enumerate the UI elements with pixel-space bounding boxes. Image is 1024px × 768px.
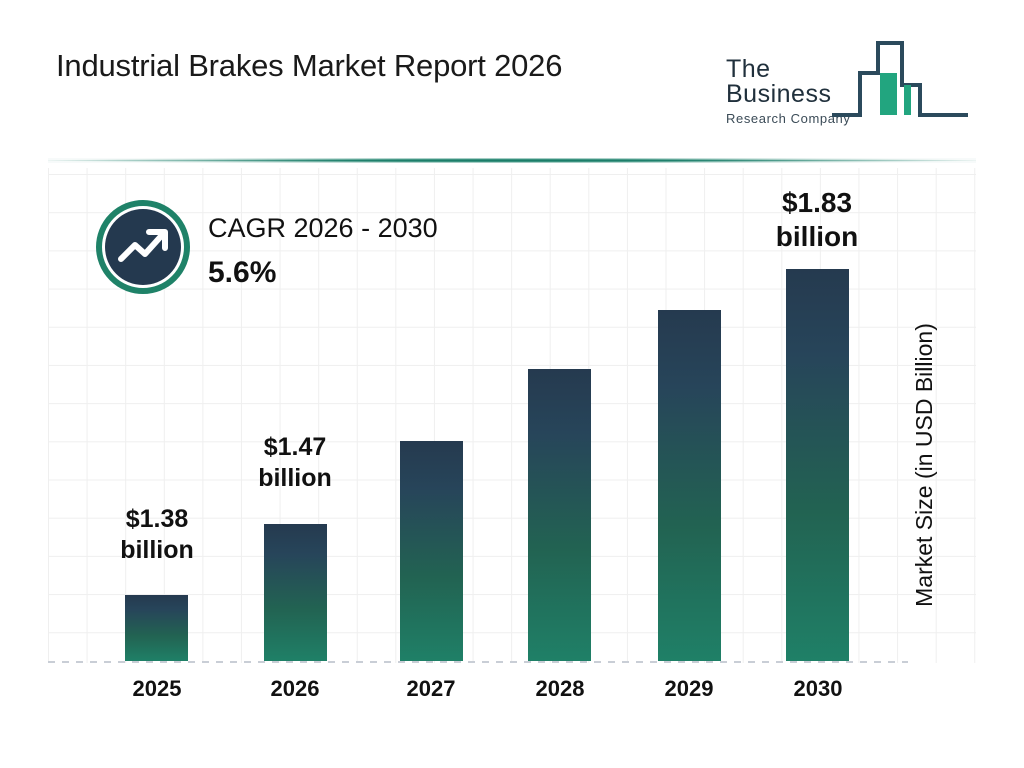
x-tick-2025: 2025	[96, 676, 218, 702]
x-tick-2030: 2030	[757, 676, 879, 702]
chart-page: Industrial Brakes Market Report 2026 The…	[0, 0, 1024, 768]
bar-value-label-2025: $1.38 billion	[96, 504, 218, 565]
bar-2026[interactable]	[264, 524, 327, 661]
cagr-badge	[96, 200, 190, 294]
bar-2027[interactable]	[400, 441, 463, 661]
bar-series	[0, 0, 1024, 768]
bar-2025[interactable]	[125, 595, 188, 661]
cagr-title: CAGR 2026 - 2030	[208, 213, 438, 244]
y-axis-label: Market Size (in USD Billion)	[895, 270, 953, 660]
bar-value-label-2030: $1.83 billion	[756, 186, 878, 254]
bar-value-label-2026-line2: billion	[234, 463, 356, 494]
x-tick-2028: 2028	[499, 676, 621, 702]
trending-up-icon	[105, 209, 181, 285]
bar-2030[interactable]	[786, 269, 849, 661]
bar-value-label-2026-line1: $1.47	[234, 432, 356, 463]
x-tick-2027: 2027	[370, 676, 492, 702]
bar-value-label-2026: $1.47 billion	[234, 432, 356, 493]
x-tick-2026: 2026	[234, 676, 356, 702]
bar-2028[interactable]	[528, 369, 591, 661]
cagr-value: 5.6%	[208, 256, 276, 290]
bar-value-label-2030-line1: $1.83	[756, 186, 878, 220]
bar-value-label-2025-line1: $1.38	[96, 504, 218, 535]
bar-value-label-2025-line2: billion	[96, 535, 218, 566]
bar-value-label-2030-line2: billion	[756, 220, 878, 254]
x-tick-2029: 2029	[628, 676, 750, 702]
cagr-annotation: CAGR 2026 - 2030 5.6%	[96, 200, 516, 310]
bar-2029[interactable]	[658, 310, 721, 661]
